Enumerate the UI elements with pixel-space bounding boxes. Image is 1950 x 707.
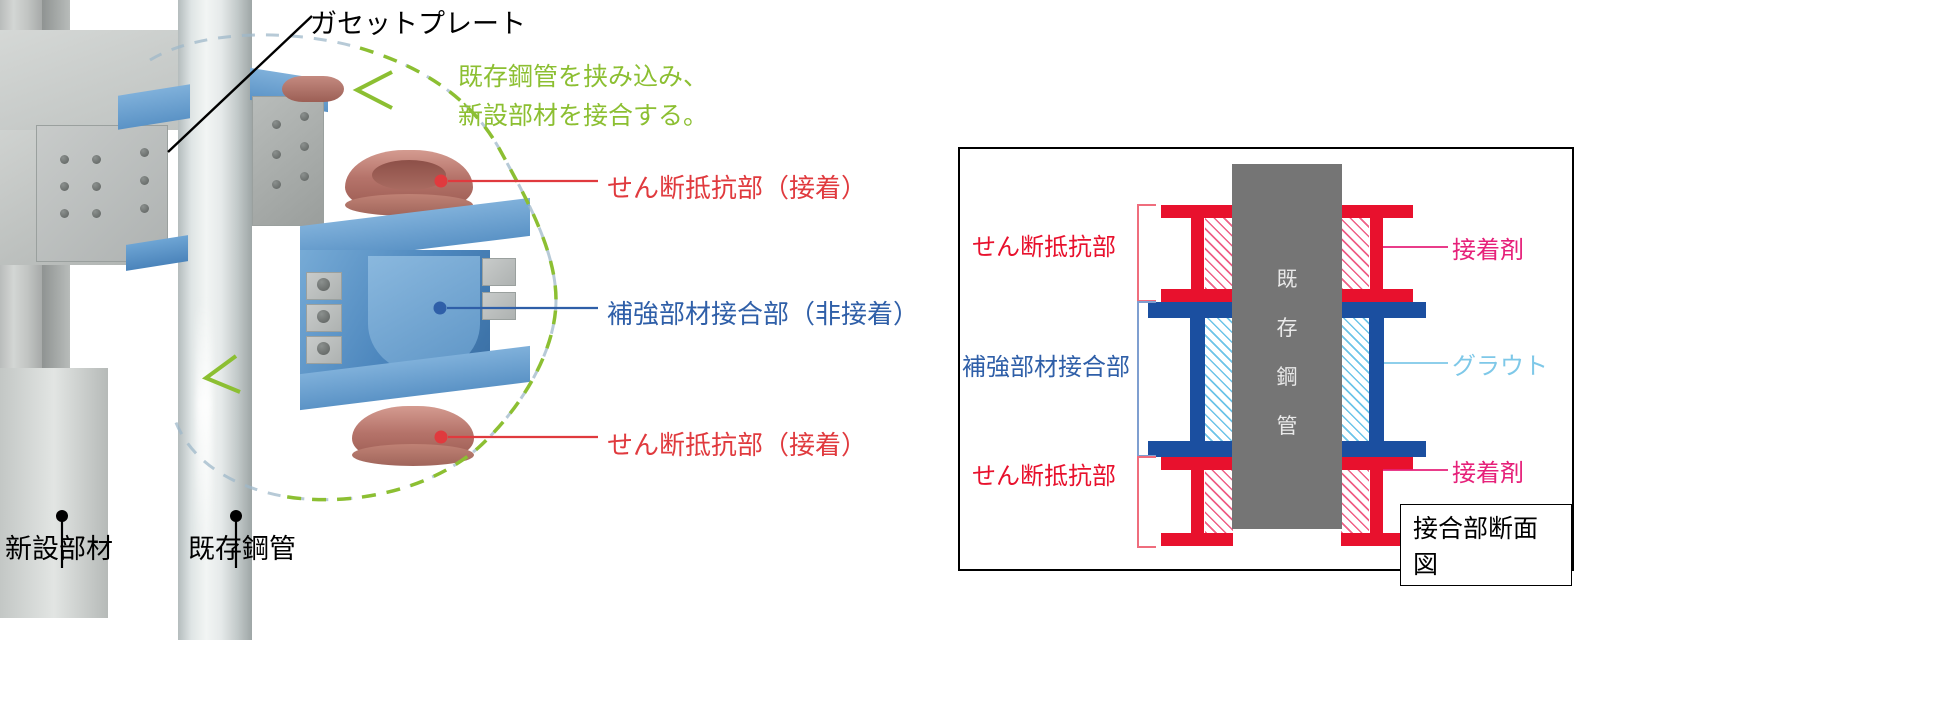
label-reinforcement-joint: 補強部材接合部（非接着） — [607, 294, 919, 331]
section-label-grout: グラウト — [1452, 346, 1548, 381]
section-label-adhesive-bottom: 接着剤 — [1452, 453, 1524, 488]
green-note-line-1: 既存鋼管を挟み込み、 — [458, 58, 708, 97]
green-note-line-2: 新設部材を接合する。 — [458, 97, 708, 136]
section-label-joint: 補強部材接合部 — [962, 347, 1130, 382]
label-shear-resistance-bottom: せん断抵抗部（接着） — [607, 425, 867, 462]
label-new-member: 新設部材 — [5, 527, 113, 566]
3d-render-panel: ガセットプレート 既存鋼管を挟み込み、 新設部材を接合する。 せん断抵抗部（接着… — [0, 0, 940, 707]
section-label-adhesive-top: 接着剤 — [1452, 230, 1524, 265]
cross-section-panel: 既 存 鋼 管 せん断抵抗部 補強部材接合部 せん断抵抗部 接着剤 グラウト 接… — [958, 147, 1574, 571]
label-existing-tube: 既存鋼管 — [188, 527, 296, 566]
section-caption-box: 接合部断面図 — [1400, 504, 1572, 586]
label-gusset-plate: ガセットプレート — [310, 2, 526, 41]
section-label-shear-top: せん断抵抗部 — [972, 227, 1116, 262]
green-annotation-note: 既存鋼管を挟み込み、 新設部材を接合する。 — [458, 58, 708, 136]
section-label-shear-bottom: せん断抵抗部 — [972, 456, 1116, 491]
label-shear-resistance-top: せん断抵抗部（接着） — [607, 168, 867, 205]
